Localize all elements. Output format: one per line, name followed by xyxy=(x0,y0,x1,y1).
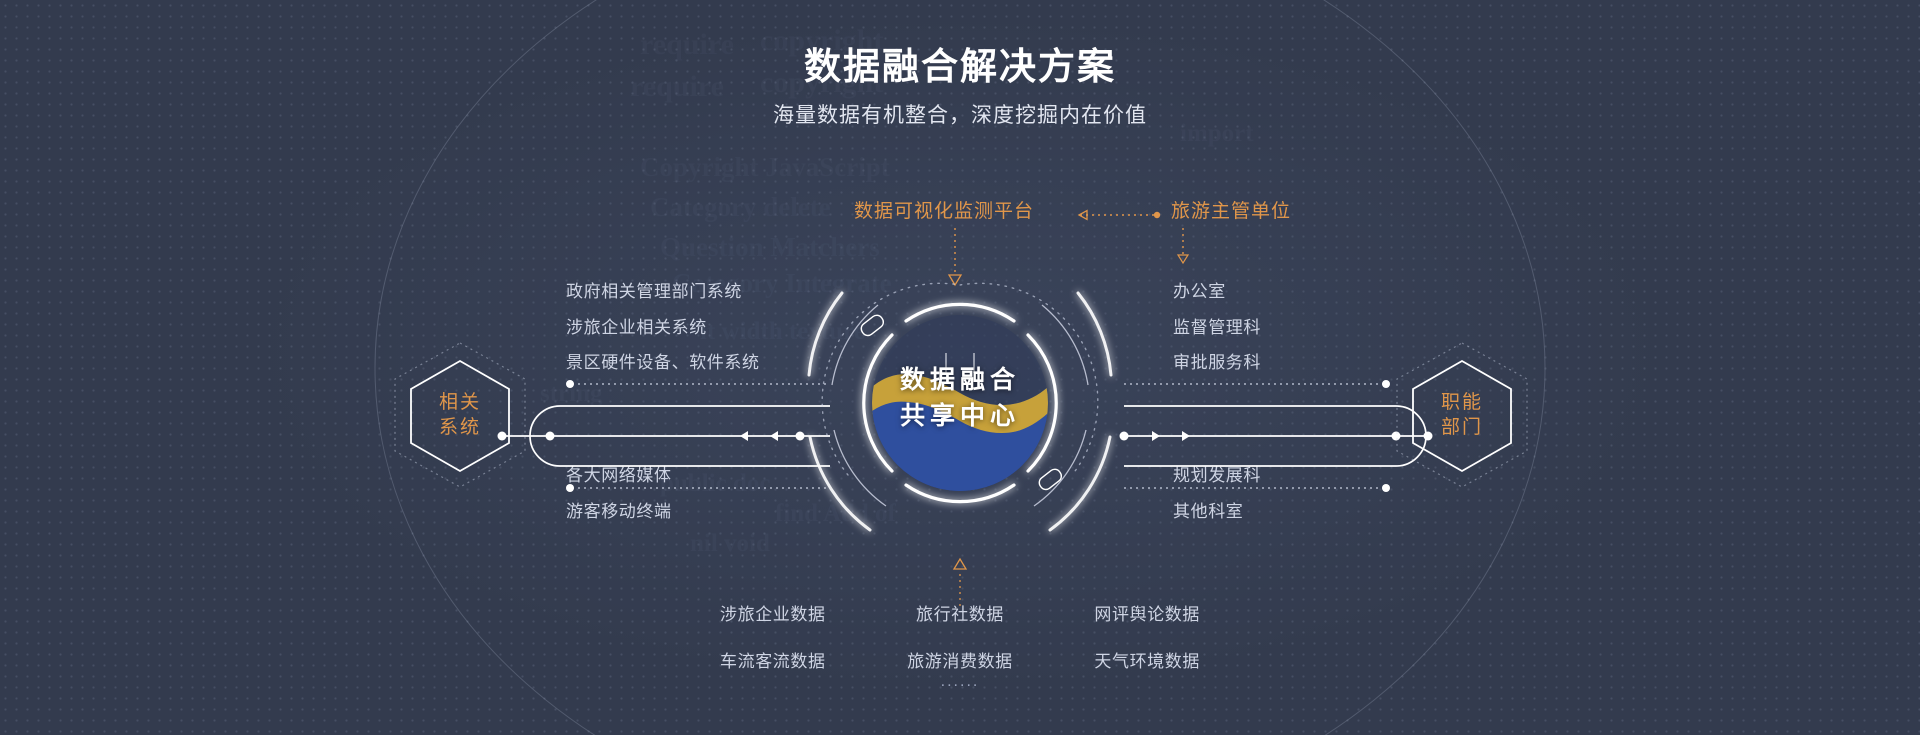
page-title: 数据融合解决方案 xyxy=(0,36,1920,90)
node-visualization-platform[interactable]: 数据可视化监测平台 xyxy=(854,196,1034,223)
bottom-item-1-2[interactable]: 天气环境数据 xyxy=(1094,647,1200,672)
page-subtitle: 海量数据有机整合，深度挖掘内在价值 xyxy=(0,99,1920,129)
arrow-authority-to-platform xyxy=(1066,209,1158,219)
right-item-0[interactable]: 办公室 xyxy=(1173,277,1226,302)
hexagon-functional-departments[interactable]: 职能 部门 xyxy=(1392,339,1532,491)
hexagon-right-shape xyxy=(1392,339,1532,491)
bottom-item-0-0[interactable]: 涉旅企业数据 xyxy=(720,600,826,625)
bottom-item-1-0[interactable]: 车流客流数据 xyxy=(720,647,826,672)
center-hub-graphics xyxy=(782,225,1138,581)
hexagon-left-shape xyxy=(390,339,530,491)
bottom-row-0: 涉旅企业数据 旅行社数据 网评舆论数据 xyxy=(720,600,1200,625)
connector-authority-down xyxy=(1168,228,1198,276)
center-hub[interactable]: 数据融合 共享中心 xyxy=(782,225,1138,581)
arc-marker-left xyxy=(859,313,886,338)
node-authority-unit[interactable]: 旅游主管单位 xyxy=(1171,196,1291,223)
left-item-4[interactable]: 游客移动终端 xyxy=(566,497,672,522)
top-node-row: 数据可视化监测平台 旅游主管单位 xyxy=(0,196,1920,226)
left-item-0[interactable]: 政府相关管理部门系统 xyxy=(566,277,742,302)
bottom-ellipsis: ...... xyxy=(0,673,1920,691)
right-item-4[interactable]: 其他科室 xyxy=(1173,497,1243,522)
arc-marker-right xyxy=(1037,467,1064,492)
left-item-1[interactable]: 涉旅企业相关系统 xyxy=(566,313,707,338)
bottom-item-1-1[interactable]: 旅游消费数据 xyxy=(907,647,1013,672)
data-fusion-infographic: require copyright require copyright Copy… xyxy=(0,0,1920,735)
bottom-row-1: 车流客流数据 旅游消费数据 天气环境数据 xyxy=(720,647,1200,672)
right-item-1[interactable]: 监督管理科 xyxy=(1173,313,1261,338)
bottom-item-0-2[interactable]: 网评舆论数据 xyxy=(1094,600,1200,625)
hexagon-related-systems[interactable]: 相关 系统 xyxy=(390,339,530,491)
bottom-item-0-1[interactable]: 旅行社数据 xyxy=(916,600,1004,625)
